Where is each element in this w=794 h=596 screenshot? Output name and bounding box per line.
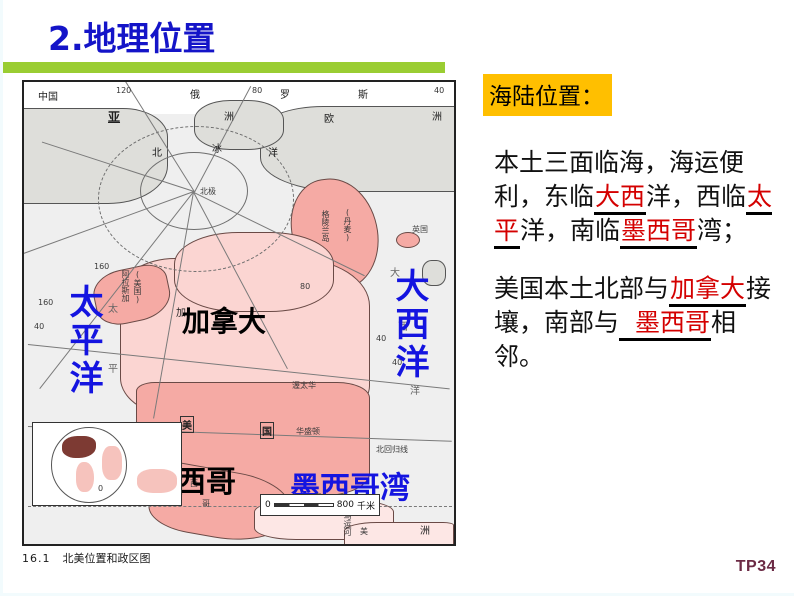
- map-annotation-canada: 加拿大: [182, 308, 266, 336]
- map-graticule-120: 120: [116, 86, 131, 95]
- map-label-arctic-bei: 北: [152, 144, 162, 159]
- page-number-tag: TP34: [736, 558, 776, 576]
- globe-south-america: [76, 462, 94, 492]
- map-caption: 16.1北美位置和政区图: [22, 550, 151, 566]
- map-caption-text: 北美位置和政区图: [63, 552, 151, 565]
- map-graticule-40-right: 40: [376, 334, 386, 343]
- map-label-europe-zhou: 洲: [432, 108, 442, 123]
- map-label-tropic-cancer: 北回归线: [376, 444, 408, 455]
- para1-text-3: 洋，南临: [520, 216, 620, 245]
- map-print-atlantic-3: 洋: [410, 382, 420, 397]
- para2-text-1: 美国本土北部与: [494, 274, 669, 303]
- inset-extra-land: [137, 469, 177, 493]
- globe-outline: 0: [51, 427, 127, 503]
- map-annotation-atlantic-ocean: 大西洋: [392, 268, 426, 382]
- map-graticule-40-top: 40: [434, 86, 444, 95]
- scale-value: 800: [337, 500, 354, 510]
- section-heading-sea-land-position: 海陆位置：: [483, 74, 612, 116]
- globe-africa: [102, 446, 122, 480]
- map-label-ottawa: 渥太华: [292, 380, 316, 391]
- map-label-alaska: 阿拉斯加: [120, 270, 131, 302]
- explanation-panel: 海陆位置： 本土三面临海，海运便利，东临大西洋，西临太平洋，南临墨西哥湾； 美国…: [478, 74, 788, 494]
- map-graticule-160-left-2: 160: [38, 298, 53, 307]
- map-label-usa-mei: 美: [180, 416, 194, 433]
- map-inset-globe-panel: 0: [32, 422, 182, 506]
- map-label-england: 英国: [412, 224, 428, 235]
- map-label-south-america-zhou: 洲: [420, 522, 430, 537]
- map-label-russia-s: 斯: [358, 86, 368, 101]
- map-print-pacific-2: 平: [108, 360, 118, 375]
- map-label-asia: 亚: [108, 108, 120, 125]
- blank-atlantic[interactable]: 大西: [594, 182, 646, 215]
- map-label-arctic-bing: 冰: [212, 140, 222, 155]
- map-label-alaska-us: (美国): [132, 270, 143, 304]
- map-label-china: 中国: [38, 88, 58, 103]
- page-title: 2.地理位置: [48, 12, 216, 60]
- tropic-of-cancer-line: [28, 506, 452, 507]
- map-graticule-40-left: 40: [34, 322, 44, 331]
- paragraph-coastlines: 本土三面临海，海运便利，东临大西洋，西临太平洋，南临墨西哥湾；: [478, 146, 788, 248]
- map-annotation-pacific-ocean: 太平洋: [66, 284, 100, 398]
- map-graticule-80-inner: 80: [300, 282, 310, 291]
- scale-rule: [274, 503, 334, 507]
- globe-meridian-label: 0: [98, 484, 103, 493]
- para1-text-2: 洋，西临: [646, 182, 746, 211]
- map-label-russia-e: 俄: [190, 86, 200, 101]
- paragraph-borders: 美国本土北部与加拿大接壤，南部与墨西哥相邻。: [478, 272, 788, 374]
- map-graticule-160-left: 160: [94, 262, 109, 271]
- map-label-arctic-yang: 洋: [268, 144, 278, 159]
- blank-mexico[interactable]: 墨西哥: [619, 308, 711, 341]
- map-label-south-america-mei: 美: [360, 526, 368, 537]
- scale-unit: 千米: [357, 499, 375, 512]
- map-label-denmark: (丹麦): [342, 208, 353, 242]
- map-label-russia-l: 罗: [280, 86, 290, 101]
- slide-canvas: 2.地理位置: [0, 0, 794, 596]
- map-print-pacific-1: 太: [108, 300, 118, 315]
- map-scale-bar: 0 800 千米: [260, 494, 380, 516]
- map-label-washington: 华盛顿: [296, 426, 320, 437]
- map-label-usa-guo: 国: [260, 422, 274, 439]
- map-label-europe: 欧: [324, 110, 334, 125]
- map-label-north-pole: 北极: [200, 186, 216, 197]
- map-caption-number: 16.1: [22, 552, 51, 565]
- globe-north-america: [62, 436, 96, 458]
- blank-canada[interactable]: 加拿大: [669, 274, 746, 307]
- map-canvas: 中国 亚 120 俄 80 罗 洲 斯 欧 40 洲 北 冰 洋 北极 格陵兰岛…: [24, 82, 454, 544]
- blank-gulf-mexico[interactable]: 墨西哥: [620, 216, 697, 249]
- map-label-greenland: 格陵兰岛: [320, 210, 331, 242]
- map-label-asia-zhou: 洲: [224, 108, 234, 123]
- title-underline-bar: [2, 62, 445, 73]
- para1-text-4: 湾；: [697, 216, 747, 245]
- map-graticule-80: 80: [252, 86, 262, 95]
- map-figure: 中国 亚 120 俄 80 罗 洲 斯 欧 40 洲 北 冰 洋 北极 格陵兰岛…: [22, 80, 456, 546]
- scale-zero: 0: [265, 500, 271, 510]
